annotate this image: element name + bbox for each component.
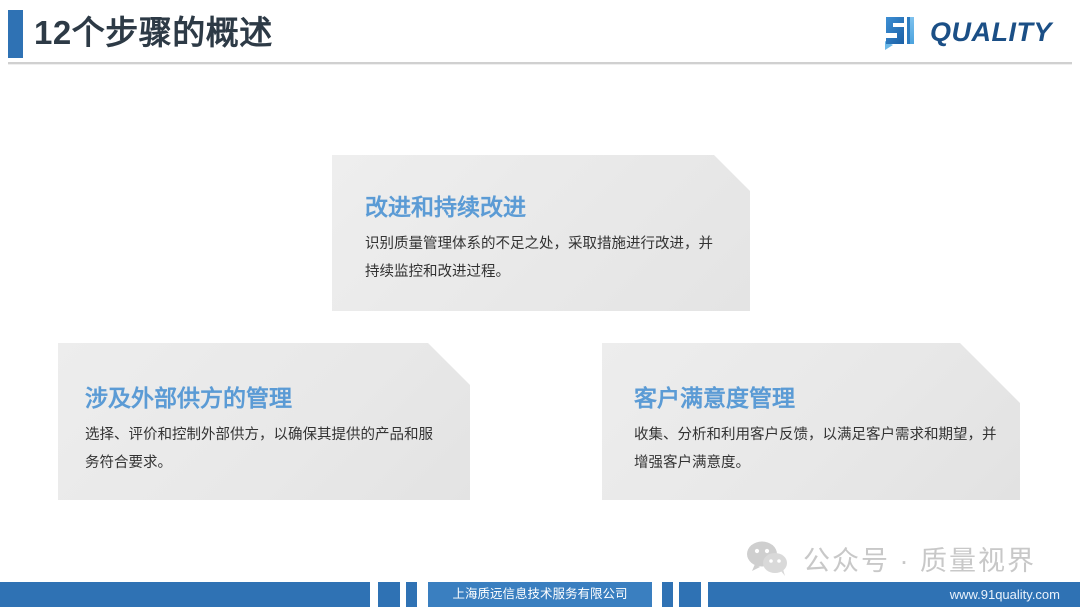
card-improve-title: 改进和持续改进: [365, 188, 526, 222]
card-supplier: 涉及外部供方的管理 选择、评价和控制外部供方，以确保其提供的产品和服务符合要求。: [58, 343, 470, 500]
slide: 12个步骤的概述: [0, 0, 1080, 607]
title-accent-bar: [8, 10, 23, 58]
wechat-icon: [745, 540, 791, 576]
footer-website-url: www.91quality.com: [950, 582, 1060, 607]
card-supplier-body: 选择、评价和控制外部供方，以确保其提供的产品和服务符合要求。: [85, 421, 445, 477]
slide-header: 12个步骤的概述: [0, 0, 1080, 64]
card-improve: 改进和持续改进 识别质量管理体系的不足之处，采取措施进行改进，并持续监控和改进过…: [332, 155, 750, 311]
footer-bar-segment: [679, 582, 701, 607]
footer-bar-segment: [378, 582, 400, 607]
footer-bar-segment: [0, 582, 370, 607]
footer-bar-segment: [662, 582, 673, 607]
logo-text: QUALITY: [930, 17, 1052, 48]
logo-mark-icon: [882, 14, 922, 50]
wechat-promo: 公众号 · 质量视界: [745, 535, 1065, 581]
page-title: 12个步骤的概述: [34, 9, 273, 57]
brand-logo: QUALITY: [882, 12, 1052, 52]
wechat-promo-label: 公众号 · 质量视界: [803, 539, 1036, 578]
header-divider-shadow: [8, 64, 1072, 65]
footer-company-name: 上海质远信息技术服务有限公司: [428, 582, 652, 607]
card-customer-body: 收集、分析和利用客户反馈，以满足客户需求和期望，并增强客户满意度。: [634, 421, 1004, 477]
card-improve-body: 识别质量管理体系的不足之处，采取措施进行改进，并持续监控和改进过程。: [365, 230, 725, 286]
slide-footer: 上海质远信息技术服务有限公司 www.91quality.com: [0, 582, 1080, 607]
card-supplier-title: 涉及外部供方的管理: [85, 379, 292, 413]
card-customer-title: 客户满意度管理: [634, 379, 795, 413]
footer-bar-segment: [406, 582, 417, 607]
card-customer: 客户满意度管理 收集、分析和利用客户反馈，以满足客户需求和期望，并增强客户满意度…: [602, 343, 1020, 500]
